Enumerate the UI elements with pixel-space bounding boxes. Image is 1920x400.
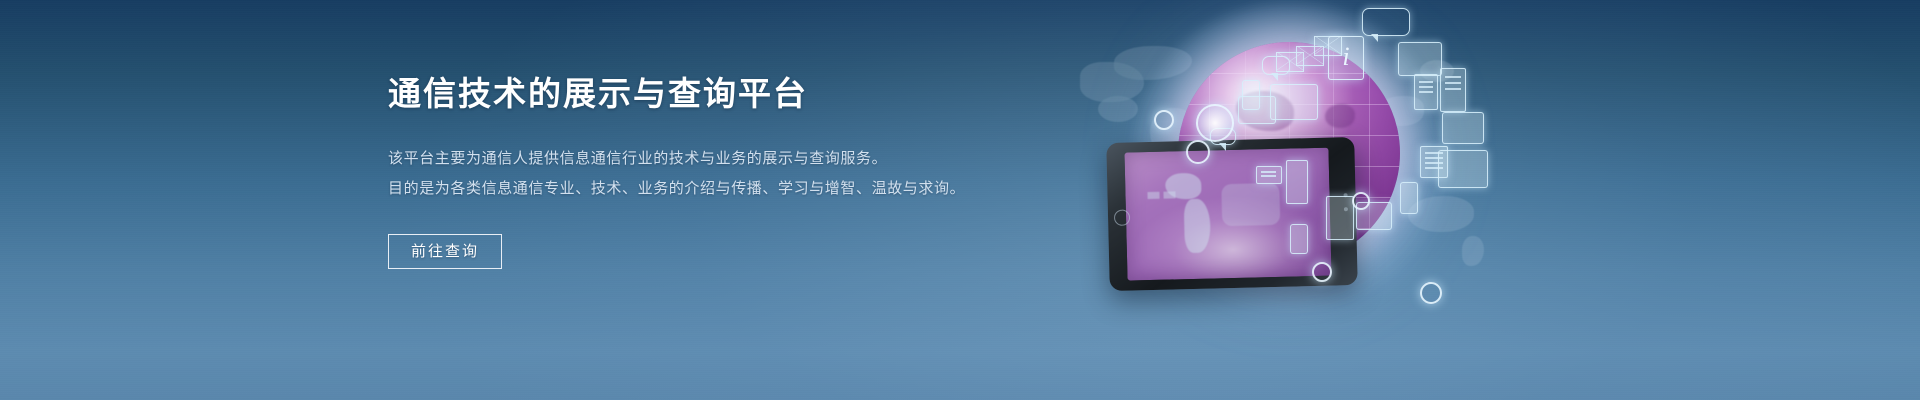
envelope-icon [1276, 52, 1304, 72]
server-icon [1414, 74, 1438, 110]
server-rack-icon [1420, 146, 1448, 178]
hero-banner: 通信技术的展示与查询平台 该平台主要为通信人提供信息通信行业的技术与业务的展示与… [0, 0, 1920, 400]
node-ring-icon [1420, 282, 1442, 304]
mobile-phone-icon [1290, 224, 1308, 254]
description-line-1: 该平台主要为通信人提供信息通信行业的技术与业务的展示与查询服务。 [388, 144, 1048, 174]
page-title: 通信技术的展示与查询平台 [388, 74, 1048, 114]
document-list-icon [1256, 166, 1282, 184]
desktop-tower-icon [1326, 196, 1354, 240]
node-ring-icon [1352, 192, 1370, 210]
node-ring-icon [1196, 104, 1234, 142]
desktop-tower-icon [1286, 160, 1308, 204]
mobile-phone-icon [1242, 80, 1260, 110]
hero-description: 该平台主要为通信人提供信息通信行业的技术与业务的展示与查询服务。 目的是为各类信… [388, 144, 1048, 204]
monitor-icon [1442, 112, 1484, 144]
display-screen-icon [1270, 84, 1318, 120]
node-ring-icon [1312, 262, 1332, 282]
go-to-query-button[interactable]: 前往查询 [388, 234, 502, 269]
speech-bubble-icon [1362, 8, 1410, 36]
hero-copy: 通信技术的展示与查询平台 该平台主要为通信人提供信息通信行业的技术与业务的展示与… [388, 74, 1048, 269]
node-ring-icon [1186, 140, 1210, 164]
global-communication-illustration: i [1090, 0, 1530, 400]
mobile-phone-icon [1400, 182, 1418, 214]
tablet-outline-icon [1398, 42, 1442, 76]
description-line-2: 目的是为各类信息通信专业、技术、业务的介绍与传播、学习与增智、温故与求询。 [388, 174, 1048, 204]
node-ring-icon [1154, 110, 1174, 130]
server-icon [1440, 68, 1466, 112]
info-icon: i [1328, 36, 1364, 80]
